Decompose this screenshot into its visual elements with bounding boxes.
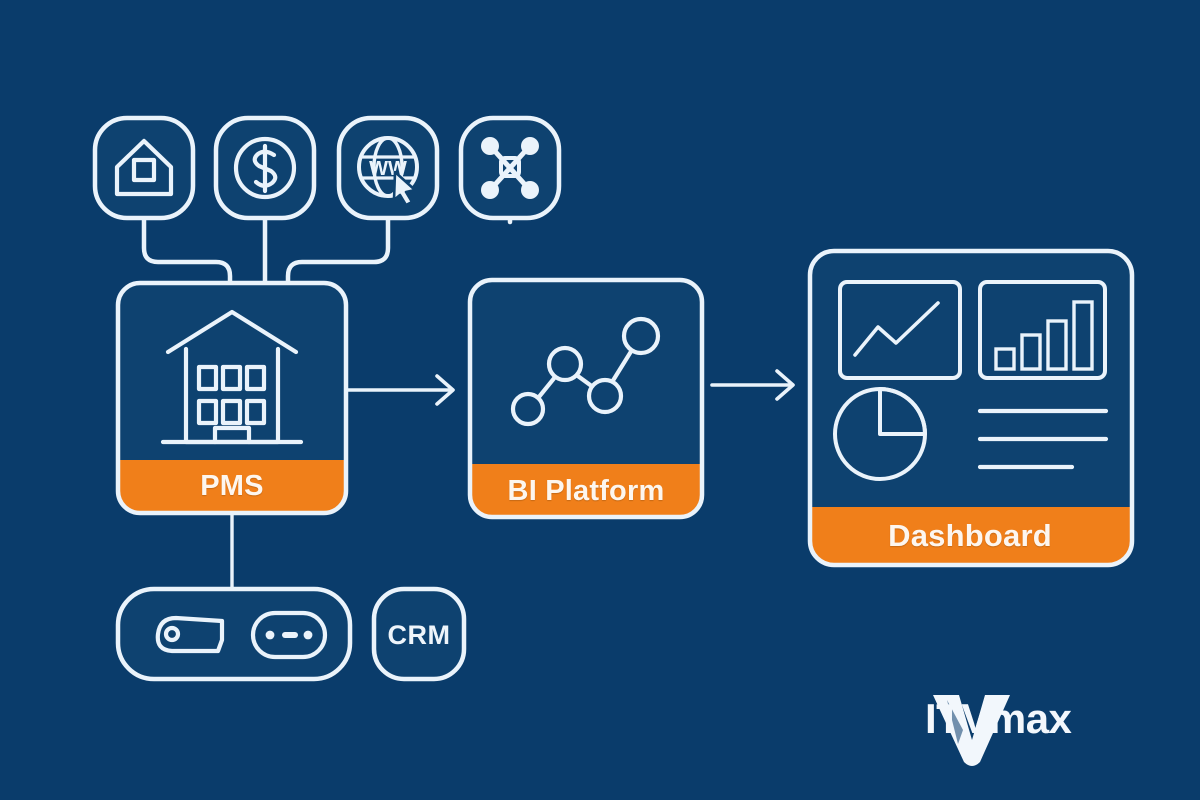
card-pms[interactable] bbox=[118, 283, 346, 513]
brand-wordmark: ITVmax bbox=[925, 698, 1071, 740]
source-icon-network[interactable] bbox=[461, 118, 559, 218]
pms-to-bi-arrow bbox=[348, 376, 453, 404]
crm-badge[interactable] bbox=[374, 589, 464, 679]
dashboard-label-band bbox=[810, 507, 1132, 565]
source-icon-home[interactable] bbox=[95, 118, 193, 218]
devices-pill-frame bbox=[118, 589, 350, 679]
devices-pill[interactable] bbox=[118, 589, 350, 679]
crm-badge-frame bbox=[374, 589, 464, 679]
card-dashboard[interactable] bbox=[810, 251, 1132, 565]
card-bi-platform[interactable] bbox=[470, 280, 702, 517]
web-to-pms-connector bbox=[288, 218, 388, 283]
diagram-canvas: WW bbox=[0, 0, 1200, 800]
home-icon-frame bbox=[95, 118, 193, 218]
flow-diagram-svg: WW bbox=[0, 0, 1200, 800]
source-icon-web[interactable]: WW bbox=[339, 118, 437, 218]
brand-name-light: max bbox=[989, 695, 1072, 742]
bi-to-dashboard-arrow bbox=[712, 371, 793, 399]
brand-name-bold: ITV bbox=[925, 695, 989, 742]
bi-label-band bbox=[470, 464, 702, 517]
home-to-pms-connector bbox=[144, 218, 230, 283]
pms-label-band bbox=[118, 460, 346, 513]
brand-logo: ITVmax bbox=[925, 688, 1175, 750]
source-icon-dollar[interactable] bbox=[216, 118, 314, 218]
